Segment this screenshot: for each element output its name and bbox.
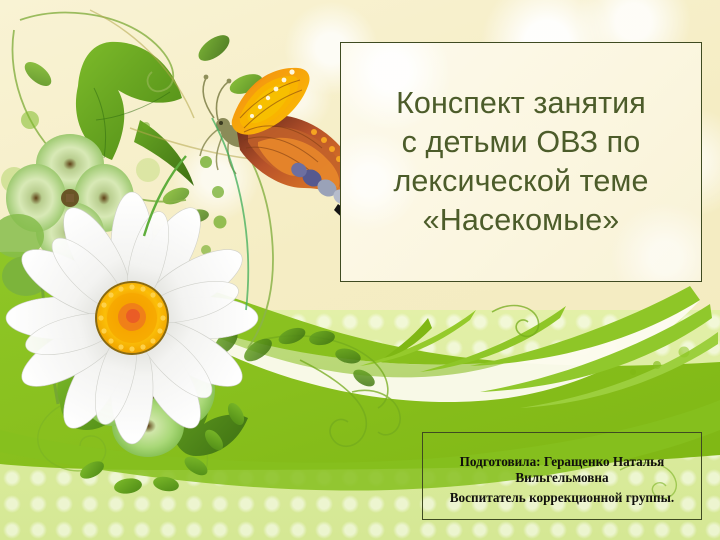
author-line-2: Вильгельмовна	[515, 470, 608, 485]
author-credit: Подготовила: Геращенко Наталья Вильгельм…	[450, 438, 674, 522]
title-text-box: Конспект занятия с детьми ОВЗ по лексиче…	[340, 42, 702, 282]
author-line-3: Воспитатель коррекционной группы.	[450, 490, 674, 506]
author-line-1: Подготовила: Геращенко Наталья	[460, 454, 665, 469]
page-title: Конспект занятия с детьми ОВЗ по лексиче…	[387, 84, 654, 241]
presentation-slide: Конспект занятия с детьми ОВЗ по лексиче…	[0, 0, 720, 540]
author-text-box: Подготовила: Геращенко Наталья Вильгельм…	[422, 432, 702, 520]
